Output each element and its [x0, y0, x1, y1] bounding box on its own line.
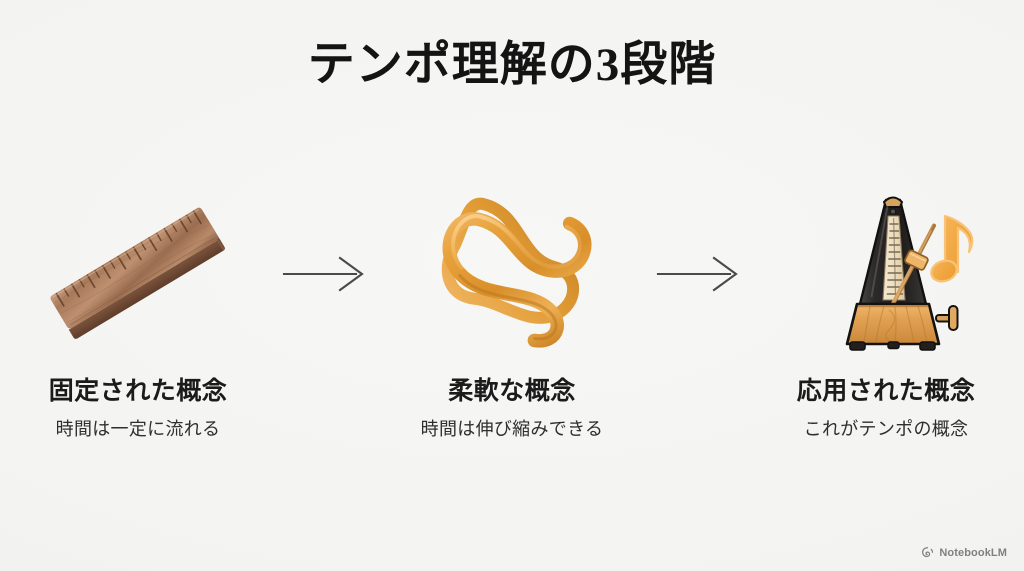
- stage-item-applied: 応用された概念 これがテンポの概念: [748, 186, 1024, 440]
- ruler-illustration: [18, 186, 258, 361]
- arrow-cell-2: [650, 186, 748, 361]
- arrow-right-icon: [282, 254, 368, 294]
- stage-title: 応用された概念: [797, 378, 976, 406]
- notebooklm-logo-icon: [921, 546, 934, 559]
- watermark-label: NotebookLM: [939, 547, 1007, 559]
- notebooklm-watermark: NotebookLM: [921, 546, 1007, 559]
- arrow-right-icon: [656, 254, 742, 294]
- rubber-band-illustration: [392, 186, 632, 361]
- arrow-cell-1: [276, 186, 374, 361]
- stage-item-flexible: 柔軟な概念 時間は伸び縮みできる: [374, 186, 650, 440]
- stage-item-fixed: 固定された概念 時間は一定に流れる: [0, 186, 276, 440]
- rubber-band-emoji: [417, 186, 607, 361]
- page-title: テンポ理解の3段階: [0, 38, 1024, 92]
- stage-title: 固定された概念: [49, 378, 228, 406]
- metronome-emoji: [786, 186, 986, 361]
- slide-canvas: テンポ理解の3段階: [0, 0, 1024, 571]
- stage-title: 柔軟な概念: [448, 378, 576, 406]
- stage-caption: 時間は伸び縮みできる: [421, 419, 604, 441]
- stage-caption: これがテンポの概念: [804, 419, 969, 441]
- straight-ruler-emoji: [48, 186, 228, 361]
- stages-row: 固定された概念 時間は一定に流れる: [0, 186, 1024, 440]
- metronome-illustration: [766, 186, 1006, 361]
- stage-caption: 時間は一定に流れる: [56, 419, 221, 441]
